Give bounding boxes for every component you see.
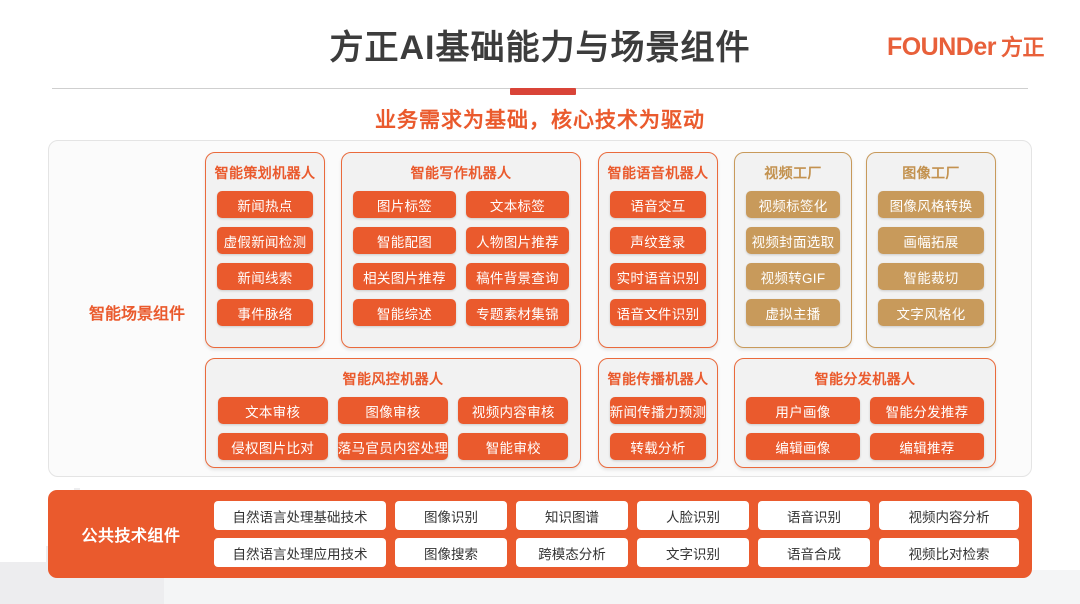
chip-group: 图像风格转换 画幅拓展 智能裁切 文字风格化 [867,191,995,338]
chip[interactable]: 文本标签 [466,191,569,218]
public-tech-grid: 自然语言处理基础技术 图像识别 知识图谱 人脸识别 语音识别 视频内容分析 自然… [214,501,1033,567]
chip[interactable]: 视频封面选取 [746,227,840,254]
public-tech-chip[interactable]: 自然语言处理应用技术 [214,538,386,567]
chip[interactable]: 画幅拓展 [878,227,984,254]
chip[interactable]: 专题素材集锦 [466,299,569,326]
chip[interactable]: 落马官员内容处理 [338,433,448,460]
public-tech-chip[interactable]: 视频内容分析 [879,501,1019,530]
panel-writing-robot: 智能写作机器人 图片标签 文本标签 智能配图 人物图片推荐 相关图片推荐 稿件背… [341,152,581,348]
chip-group: 新闻热点 虚假新闻检测 新闻线索 事件脉络 [206,191,324,338]
panel-title: 智能策划机器人 [206,163,324,183]
chip[interactable]: 转载分析 [610,433,706,460]
chip[interactable]: 智能审校 [458,433,568,460]
chip-group: 语音交互 声纹登录 实时语音识别 语音文件识别 [599,191,717,338]
public-tech-chip[interactable]: 人脸识别 [637,501,749,530]
chip[interactable]: 虚拟主播 [746,299,840,326]
panel-planning-robot: 智能策划机器人 新闻热点 虚假新闻检测 新闻线索 事件脉络 [205,152,325,348]
chip[interactable]: 新闻线索 [217,263,313,290]
panel-title: 图像工厂 [867,163,995,183]
panel-distribution-robot: 智能传播机器人 新闻传播力预测 转载分析 [598,358,718,468]
logo-cn-text: 方正 [1001,35,1044,60]
panel-title: 视频工厂 [735,163,851,183]
public-tech-chip[interactable]: 图像搜索 [395,538,507,567]
chip[interactable]: 视频标签化 [746,191,840,218]
chip[interactable]: 文本审核 [218,397,328,424]
public-tech-chip[interactable]: 语音识别 [758,501,870,530]
header-accent-bar [510,88,576,95]
chip[interactable]: 相关图片推荐 [353,263,456,290]
chip[interactable]: 图片标签 [353,191,456,218]
chip[interactable]: 智能裁切 [878,263,984,290]
panel-title: 智能传播机器人 [599,369,717,389]
chip[interactable]: 新闻传播力预测 [610,397,706,424]
public-tech-label: 公共技术组件 [48,522,214,546]
logo-text: FOUNDer [887,33,996,61]
panel-riskcontrol-robot: 智能风控机器人 文本审核 图像审核 视频内容审核 侵权图片比对 落马官员内容处理… [205,358,581,468]
chip[interactable]: 稿件背景查询 [466,263,569,290]
chip[interactable]: 新闻热点 [217,191,313,218]
chip[interactable]: 用户画像 [746,397,860,424]
chip[interactable]: 智能综述 [353,299,456,326]
panel-title: 智能分发机器人 [735,369,995,389]
public-tech-bar: 公共技术组件 自然语言处理基础技术 图像识别 知识图谱 人脸识别 语音识别 视频… [48,490,1032,578]
panel-title: 智能写作机器人 [342,163,580,183]
panel-image-factory: 图像工厂 图像风格转换 画幅拓展 智能裁切 文字风格化 [866,152,996,348]
chip[interactable]: 语音交互 [610,191,706,218]
chip[interactable]: 智能配图 [353,227,456,254]
chip[interactable]: 实时语音识别 [610,263,706,290]
chip-group: 图片标签 文本标签 智能配图 人物图片推荐 相关图片推荐 稿件背景查询 智能综述… [342,191,580,338]
chip[interactable]: 编辑画像 [746,433,860,460]
panel-voice-robot: 智能语音机器人 语音交互 声纹登录 实时语音识别 语音文件识别 [598,152,718,348]
chip[interactable]: 智能分发推荐 [870,397,984,424]
chip[interactable]: 文字风格化 [878,299,984,326]
public-tech-chip[interactable]: 语音合成 [758,538,870,567]
public-tech-chip[interactable]: 视频比对检索 [879,538,1019,567]
public-tech-chip[interactable]: 图像识别 [395,501,507,530]
founder-logo: FOUNDer方正 [887,30,1044,62]
public-tech-chip[interactable]: 自然语言处理基础技术 [214,501,386,530]
panel-title: 智能语音机器人 [599,163,717,183]
chip[interactable]: 视频内容审核 [458,397,568,424]
public-tech-chip[interactable]: 知识图谱 [516,501,628,530]
chip[interactable]: 图像风格转换 [878,191,984,218]
chip-group: 视频标签化 视频封面选取 视频转GIF 虚拟主播 [735,191,851,338]
chip[interactable]: 事件脉络 [217,299,313,326]
panel-delivery-robot: 智能分发机器人 用户画像 智能分发推荐 编辑画像 编辑推荐 [734,358,996,468]
panel-title: 智能风控机器人 [206,369,580,389]
chip[interactable]: 编辑推荐 [870,433,984,460]
chip[interactable]: 声纹登录 [610,227,706,254]
chip-group: 新闻传播力预测 转载分析 [599,397,717,472]
chip[interactable]: 侵权图片比对 [218,433,328,460]
chip[interactable]: 语音文件识别 [610,299,706,326]
chip[interactable]: 视频转GIF [746,263,840,290]
chip[interactable]: 图像审核 [338,397,448,424]
chip-group: 文本审核 图像审核 视频内容审核 侵权图片比对 落马官员内容处理 智能审校 [206,397,580,472]
public-tech-chip[interactable]: 文字识别 [637,538,749,567]
slide-root: 方正AI基础能力与场景组件 FOUNDer方正 业务需求为基础，核心技术为驱动 … [0,0,1080,604]
page-subtitle: 业务需求为基础，核心技术为驱动 [0,104,1080,134]
chip[interactable]: 人物图片推荐 [466,227,569,254]
scene-components-label: 智能场景组件 [62,300,212,324]
chip[interactable]: 虚假新闻检测 [217,227,313,254]
chip-group: 用户画像 智能分发推荐 编辑画像 编辑推荐 [735,397,995,472]
public-tech-chip[interactable]: 跨模态分析 [516,538,628,567]
panel-video-factory: 视频工厂 视频标签化 视频封面选取 视频转GIF 虚拟主播 [734,152,852,348]
